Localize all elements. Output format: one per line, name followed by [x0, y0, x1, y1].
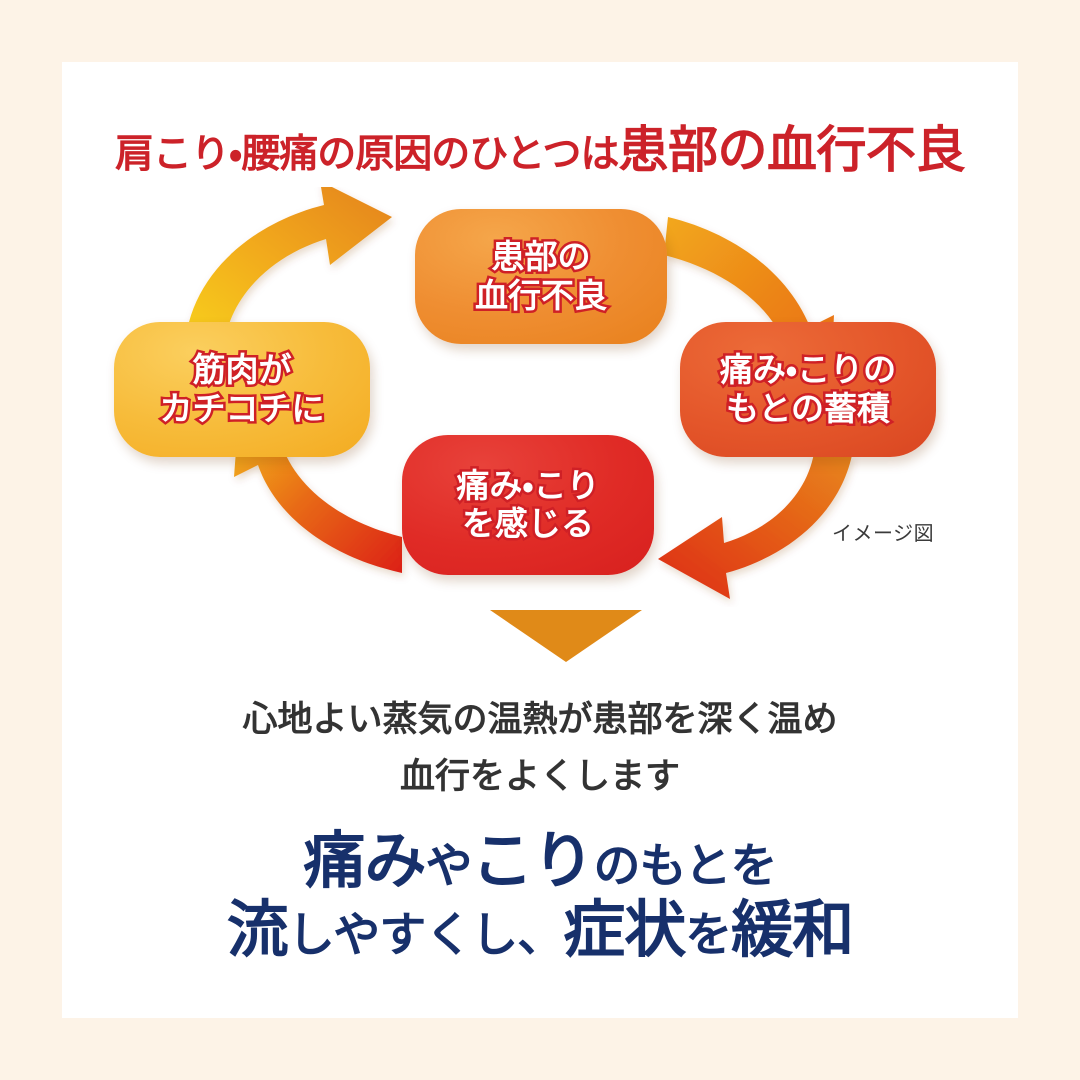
- conclusion-line-1: 痛みやこりのもとを: [62, 827, 1018, 896]
- description-line-2: 血行をよくします: [62, 749, 1018, 806]
- image-caption: イメージ図: [832, 517, 934, 546]
- cycle-node-left: 筋肉が カチコチに: [114, 322, 370, 457]
- cycle-node-right-line1: 痛み・こりの: [720, 351, 896, 389]
- cycle-node-bottom-line1: 痛み・こり: [456, 467, 599, 505]
- cycle-node-bottom: 痛み・こり を感じる: [402, 435, 654, 575]
- conclusion-l2-seg3: 症状: [563, 896, 685, 965]
- cycle-node-right: 痛み・こりの もとの蓄積: [680, 322, 936, 457]
- conclusion-l2-seg2: しやすくし、: [288, 908, 564, 961]
- description-line-1: 心地よい蒸気の温熱が患部を深く温め: [62, 692, 1018, 749]
- cycle-node-right-line2: もとの蓄積: [726, 390, 890, 428]
- conclusion-block: 痛みやこりのもとを 流しやすくし、症状を緩和: [62, 827, 1018, 966]
- cycle-node-top-line1: 患部の: [492, 238, 591, 276]
- cycle-node-bottom-line2: を感じる: [462, 505, 594, 543]
- arrow-right-to-bottom: [658, 453, 852, 599]
- content-panel: 肩こり・腰痛の原因のひとつは患部の血行不良: [62, 62, 1018, 1018]
- cycle-node-top: 患部の 血行不良: [415, 209, 667, 344]
- conclusion-l2-seg1: 流: [227, 896, 288, 965]
- cycle-node-top-line2: 血行不良: [475, 277, 607, 315]
- conclusion-l1-seg4: のもとを: [593, 839, 776, 892]
- infographic-root: 肩こり・腰痛の原因のひとつは患部の血行不良: [0, 0, 1080, 1080]
- conclusion-line-2: 流しやすくし、症状を緩和: [62, 896, 1018, 965]
- page-title: 肩こり・腰痛の原因のひとつは患部の血行不良: [62, 110, 1018, 182]
- conclusion-l2-seg5: 緩和: [731, 896, 853, 965]
- conclusion-l1-seg1: 痛み: [303, 827, 425, 896]
- cycle-node-left-line1: 筋肉が: [193, 351, 292, 389]
- conclusion-l1-seg2: や: [425, 839, 471, 892]
- arrow-left-to-top: [186, 187, 392, 340]
- conclusion-l2-seg4: を: [685, 908, 731, 961]
- page-title-lead: 肩こり・腰痛の原因のひとつは: [115, 133, 619, 176]
- down-triangle-icon: [490, 610, 642, 662]
- cycle-node-left-line2: カチコチに: [160, 390, 325, 428]
- description-block: 心地よい蒸気の温熱が患部を深く温め 血行をよくします: [62, 692, 1018, 805]
- conclusion-l1-seg3: こり: [471, 827, 593, 896]
- page-title-emphasis: 患部の血行不良: [619, 122, 966, 178]
